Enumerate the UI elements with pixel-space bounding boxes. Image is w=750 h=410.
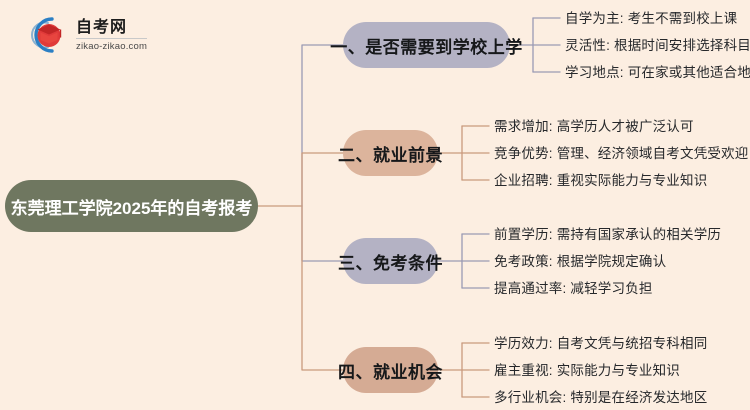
leaf-item: 前置学历: 需持有国家承认的相关学历	[494, 228, 721, 242]
leaf-item: 学习地点: 可在家或其他适合地方	[565, 66, 750, 80]
root-node[interactable]: 东莞理工学院2025年的自考报考	[5, 180, 258, 232]
branch-node-4[interactable]: 四、就业机会	[343, 347, 438, 393]
leaf-item: 免考政策: 根据学院规定确认	[494, 255, 666, 269]
leaf-item: 学历效力: 自考文凭与统招专科相同	[494, 337, 707, 351]
logo-title: 自考网	[76, 19, 147, 39]
wire-root-branch-2	[302, 206, 343, 261]
site-logo[interactable]: 自考网 zikao-zikao.com	[22, 12, 172, 58]
leaf-item: 企业招聘: 重视实际能力与专业知识	[494, 174, 707, 188]
leaf-item: 自学为主: 考生不需到校上课	[565, 12, 737, 26]
leaf-item: 多行业机会: 特别是在经济发达地区	[494, 391, 707, 405]
branch-node-1[interactable]: 一、是否需要到学校上学	[343, 22, 510, 68]
wire-root-branch-3	[302, 206, 343, 370]
leaf-item: 提高通过率: 减轻学习负担	[494, 282, 653, 296]
logo-url: zikao-zikao.com	[76, 39, 147, 53]
leaf-item: 雇主重视: 实际能力与专业知识	[494, 364, 680, 378]
leaf-item: 灵活性: 根据时间安排选择科目	[565, 39, 750, 53]
wire-root-branch-0	[302, 45, 343, 206]
branch-node-2[interactable]: 二、就业前景	[343, 130, 438, 176]
mindmap-canvas: 自考网 zikao-zikao.com 东莞理工学院2025年的自考报考 一、是…	[0, 0, 750, 410]
graduation-cap-icon	[22, 14, 68, 56]
wire-root-branch-1	[302, 153, 343, 206]
logo-text-block: 自考网 zikao-zikao.com	[76, 17, 147, 53]
branch-node-3[interactable]: 三、免考条件	[343, 238, 438, 284]
leaf-item: 竞争优势: 管理、经济领域自考文凭受欢迎	[494, 147, 749, 161]
leaf-item: 需求增加: 高学历人才被广泛认可	[494, 120, 694, 134]
